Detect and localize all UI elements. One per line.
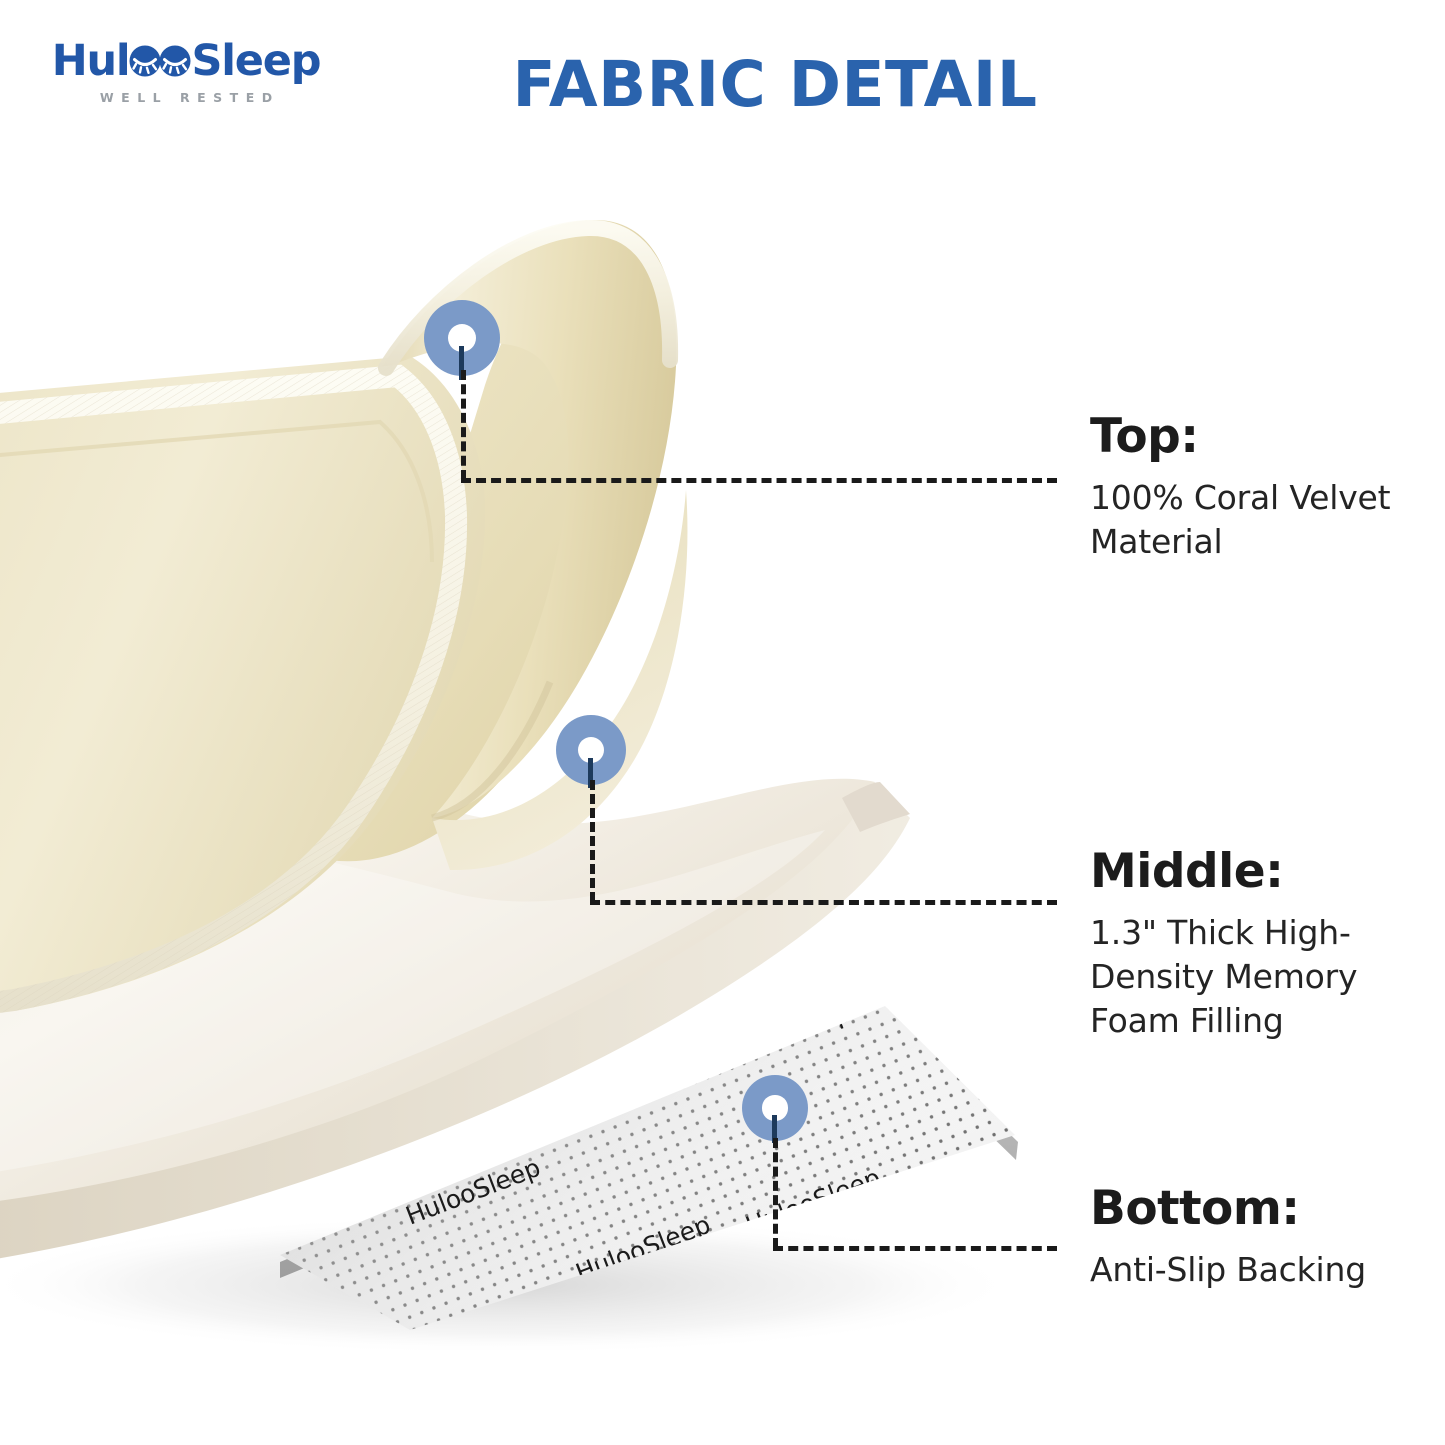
leader-top-vertical xyxy=(461,370,466,480)
infographic-page: Hul Sleep WELL RESTED FABRIC DETAIL xyxy=(0,0,1445,1445)
page-title: FABRIC DETAIL xyxy=(470,53,1080,116)
callout-bottom-body: Anti-Slip Backing xyxy=(1090,1248,1430,1292)
leader-top-horizontal xyxy=(461,478,1057,483)
brand-logo: Hul Sleep WELL RESTED xyxy=(36,34,336,120)
brand-name-prefix: Hul xyxy=(52,40,130,83)
leader-bottom-vertical xyxy=(773,1138,778,1248)
product-photo: HulooSleep HulooSleep HulooSleep HulooSl… xyxy=(0,170,1060,1350)
callout-middle-heading: Middle: xyxy=(1090,848,1430,897)
brand-name-suffix: Sleep xyxy=(191,40,320,83)
sleeping-eyes-icon xyxy=(129,44,191,78)
leader-middle-vertical xyxy=(590,780,595,902)
brand-wordmark: Hul Sleep xyxy=(36,34,336,88)
callout-middle: Middle: 1.3" Thick High-Density Memory F… xyxy=(1090,848,1430,1043)
leader-bottom-horizontal xyxy=(773,1246,1057,1251)
callout-top: Top: 100% Coral Velvet Material xyxy=(1090,413,1430,564)
leader-middle-horizontal xyxy=(590,900,1057,905)
callout-bottom: Bottom: Anti-Slip Backing xyxy=(1090,1185,1430,1292)
brand-tagline: WELL RESTED xyxy=(36,90,336,105)
callout-bottom-heading: Bottom: xyxy=(1090,1185,1430,1234)
callout-top-heading: Top: xyxy=(1090,413,1430,462)
callout-top-body: 100% Coral Velvet Material xyxy=(1090,476,1430,564)
callout-middle-body: 1.3" Thick High-Density Memory Foam Fill… xyxy=(1090,911,1430,1043)
backing-watermark: HulooSleep xyxy=(32,1343,175,1350)
